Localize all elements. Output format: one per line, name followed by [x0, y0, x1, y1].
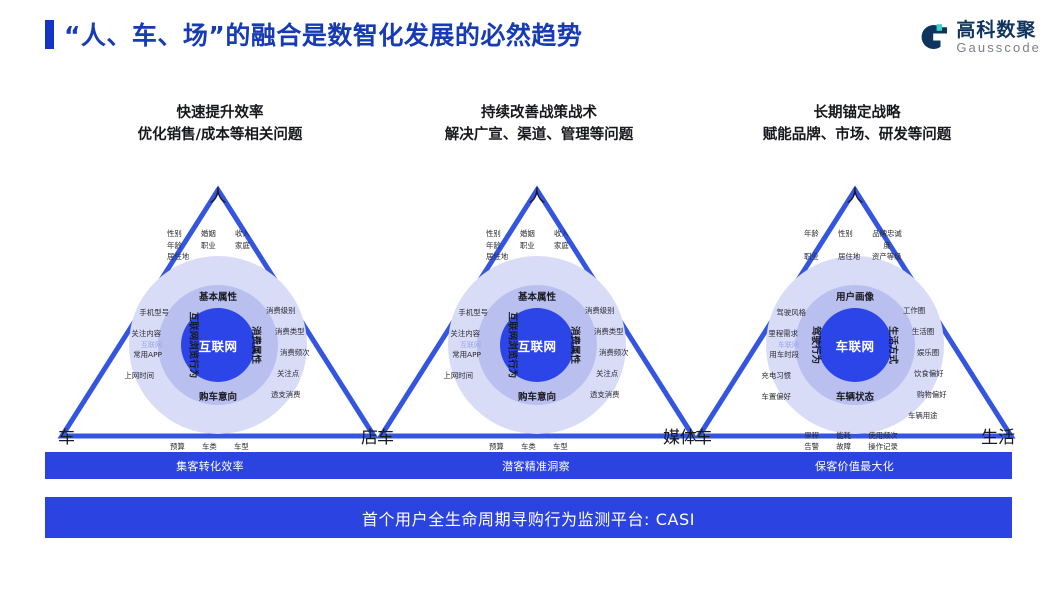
outer-label: 性别 [486, 228, 512, 240]
outer-labels-left: 驾驶风格 里程需求 用车时段 充电习惯 车置偏好 [761, 302, 800, 407]
outer-labels-top: 年龄性别品牌忠诚度 职业居住地资产等级 [804, 228, 906, 263]
outer-label: 手机型号 [443, 302, 488, 323]
outer-label: 上网时间 [443, 365, 473, 386]
triangle-diagram-0: 人 车 店 互联网 互联网 基本属性 购车意向 互联网浏览行为 消费属性 性别婚… [52, 168, 384, 448]
column-heading-line1: 长期锚定战略 [814, 105, 901, 121]
column-heading-line2: 赋能品牌、市场、研发等问题 [692, 124, 1022, 146]
outer-label: 生活圈 [912, 321, 947, 342]
column-heading-2: 长期锚定战略 赋能品牌、市场、研发等问题 [692, 102, 1022, 146]
ring-label-bottom: 购车意向 [199, 389, 237, 403]
outer-label: 年龄 [804, 228, 830, 240]
outer-label: 居住地 [167, 251, 193, 263]
column-heading-0: 快速提升效率 优化销售/成本等相关问题 [55, 102, 385, 146]
brand-name-en: Gausscode [956, 40, 1041, 55]
triangle-corner-apex: 人 [847, 182, 864, 207]
column-heading-1: 持续改善战策战术 解决广宣、渠道、管理等问题 [374, 102, 704, 146]
outer-label: 透支消费 [590, 384, 629, 405]
ring-label-bottom: 车辆状态 [836, 389, 874, 403]
outer-label: 操作记录 [868, 441, 898, 453]
outer-label: 常用APP [124, 344, 162, 365]
column-heading-line1: 持续改善战策战术 [481, 105, 597, 121]
column-heading-line2: 优化销售/成本等相关问题 [55, 124, 385, 146]
outer-label: 车置偏好 [761, 386, 791, 407]
pill-label-1: 潜客精准洞察 [371, 452, 701, 479]
outer-label: 常用APP [443, 344, 481, 365]
outer-label: 消费频次 [599, 342, 629, 363]
outer-label: 能耗 [836, 430, 860, 442]
outer-label: 年龄 [486, 240, 512, 252]
brand-logo-text: 高科数聚 Gausscode [956, 20, 1041, 55]
outer-label: 性别 [838, 228, 864, 240]
outer-label: 里程需求 [761, 323, 798, 344]
outer-label: 车类 [521, 441, 545, 453]
outer-labels-top: 性别婚姻收入 年龄职业家庭 居住地 [167, 228, 269, 263]
gausscode-g-icon [916, 20, 950, 54]
core-label: 车联网 [836, 336, 875, 355]
outer-label: 婚姻 [520, 228, 546, 240]
outer-labels-right: 消费级别 消费类型 消费频次 关注点 透支消费 [271, 300, 310, 405]
triangle-corner-bottom-left: 车 [58, 423, 75, 448]
outer-label: 上网时间 [124, 365, 154, 386]
outer-label: 用车时段 [761, 344, 799, 365]
triangle-diagram-2: 人 车 生活 车联网 车联网 用户画像 车辆状态 驾驶行为 生活方式 年龄性别品… [689, 168, 1021, 448]
outer-label: 职业 [520, 240, 546, 252]
outer-label: 故障 [836, 441, 860, 453]
outer-label: 车类 [202, 441, 226, 453]
outer-label: 驾驶风格 [761, 302, 806, 323]
pill-label-0: 集客转化效率 [45, 452, 375, 479]
outer-label: 预算 [170, 441, 194, 453]
outer-label: 告警 [804, 441, 828, 453]
slide-header: “人、车、场”的融合是数智化发展的必然趋势 高科数聚 Gausscode [0, 0, 1057, 68]
brand-logo: 高科数聚 Gausscode [916, 16, 1041, 58]
ring-label-right: 生活方式 [887, 326, 901, 364]
outer-label: 收入 [235, 228, 261, 240]
outer-label: 预算 [489, 441, 513, 453]
triangle-corner-bottom-left: 车 [377, 423, 394, 448]
outer-label: 饮食偏好 [914, 363, 947, 384]
triangle-corner-bottom-left: 车 [695, 423, 712, 448]
outer-label: 车型 [234, 441, 258, 453]
outer-label: 资产等级 [872, 251, 902, 263]
outer-label: 职业 [201, 240, 227, 252]
outer-label: 家庭 [235, 240, 261, 252]
ring-label-right: 消费属性 [569, 326, 583, 364]
slide-canvas: “人、车、场”的融合是数智化发展的必然趋势 高科数聚 Gausscode 快速提… [0, 0, 1057, 589]
outer-label: 购物偏好 [917, 384, 947, 405]
outer-labels-left: 手机型号 关注内容 常用APP 上网时间 [443, 302, 482, 386]
outer-label: 消费级别 [266, 300, 310, 321]
ring-core: 车联网 [818, 308, 892, 382]
outer-label: 婚姻 [201, 228, 227, 240]
outer-label: 关注点 [277, 363, 310, 384]
ring-label-bottom: 购车意向 [518, 389, 556, 403]
outer-labels-right: 工作圈 生活圈 娱乐圈 饮食偏好 购物偏好 车辆用途 [908, 300, 947, 426]
outer-label: 消费类型 [275, 321, 310, 342]
triangle-corner-apex: 人 [529, 182, 546, 207]
ring-label-left: 互联网浏览行为 [506, 312, 520, 379]
triangle-corner-bottom-right: 生活 [981, 423, 1015, 448]
outer-label: 车型 [553, 441, 577, 453]
outer-label: 年龄 [167, 240, 193, 252]
outer-label: 收入 [554, 228, 580, 240]
outer-label: 家庭 [554, 240, 580, 252]
outer-labels-left: 手机型号 关注内容 常用APP 上网时间 [124, 302, 163, 386]
core-label: 互联网 [518, 336, 557, 355]
outer-label: 居住地 [838, 251, 864, 263]
outer-label: 娱乐圈 [917, 342, 947, 363]
platform-banner: 首个用户全生命周期寻购行为监测平台: CASI [45, 497, 1012, 538]
outer-label: 手机型号 [124, 302, 169, 323]
outer-label: 居住地 [486, 251, 512, 263]
outer-label: 工作圈 [903, 300, 947, 321]
concentric-circles: 互联网 互联网 基本属性 购车意向 互联网浏览行为 消费属性 性别婚姻收入 年龄… [448, 256, 626, 434]
outer-label: 性别 [167, 228, 193, 240]
outer-label: 车辆用途 [908, 405, 947, 426]
page-title: “人、车、场”的融合是数智化发展的必然趋势 [64, 16, 582, 52]
outer-label: 消费级别 [585, 300, 629, 321]
outer-label: 充电习惯 [761, 365, 791, 386]
ring-label-top: 用户画像 [836, 289, 874, 303]
outer-label: 品牌忠诚度 [872, 228, 902, 251]
ring-label-top: 基本属性 [518, 289, 556, 303]
outer-label: 透支消费 [271, 384, 310, 405]
triangle-diagram-1: 人 车 媒体 互联网 互联网 基本属性 购车意向 互联网浏览行为 消费属性 性别… [371, 168, 703, 448]
pill-label-2: 保客价值最大化 [697, 452, 1012, 479]
outer-label: 职业 [804, 251, 830, 263]
outer-labels-right: 消费级别 消费类型 消费频次 关注点 透支消费 [590, 300, 629, 405]
concentric-circles: 车联网 车联网 用户画像 车辆状态 驾驶行为 生活方式 年龄性别品牌忠诚度 职业… [766, 256, 944, 434]
ring-label-right: 消费属性 [250, 326, 264, 364]
ring-label-left: 互联网浏览行为 [187, 312, 201, 379]
column-heading-line1: 快速提升效率 [177, 105, 264, 121]
outer-label: 关注点 [596, 363, 629, 384]
column-heading-line2: 解决广宣、渠道、管理等问题 [374, 124, 704, 146]
outer-labels-top: 性别婚姻收入 年龄职业家庭 居住地 [486, 228, 588, 263]
outer-label: 使用频次 [868, 430, 898, 442]
triangle-corner-apex: 人 [210, 182, 227, 207]
outer-label: 关注内容 [443, 323, 480, 344]
title-bullet-icon [45, 20, 54, 49]
ring-label-left: 驾驶行为 [810, 326, 824, 364]
core-label: 互联网 [199, 336, 238, 355]
ring-label-top: 基本属性 [199, 289, 237, 303]
outer-label: 里程 [804, 430, 828, 442]
outer-label: 消费频次 [280, 342, 310, 363]
brand-name-cn: 高科数聚 [956, 20, 1041, 40]
outer-label: 消费类型 [594, 321, 629, 342]
outer-label: 关注内容 [124, 323, 161, 344]
concentric-circles: 互联网 互联网 基本属性 购车意向 互联网浏览行为 消费属性 性别婚姻收入 年龄… [129, 256, 307, 434]
